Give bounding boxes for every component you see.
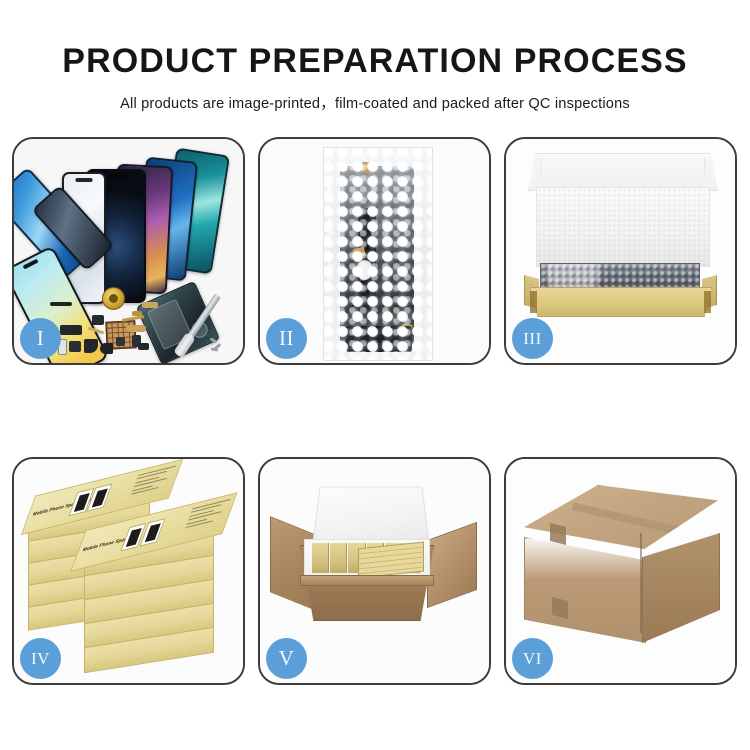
step-badge-2: II [266, 318, 307, 359]
bubble-wrap-bag [323, 147, 433, 361]
step-panel-3[interactable]: III [504, 137, 737, 365]
page-subtitle: All products are image-printed，film-coat… [0, 81, 750, 113]
part-strip [50, 302, 72, 306]
copper-coil-part [102, 287, 125, 310]
step-badge-1: I [20, 318, 61, 359]
product-preparation-infographic: PRODUCT PREPARATION PROCESS All products… [0, 0, 750, 750]
carton-vertical-edge [640, 533, 642, 633]
packed-parts-texture [541, 264, 699, 290]
process-step-grid: I II [12, 137, 738, 685]
step-badge-4: IV [20, 638, 61, 679]
header: PRODUCT PREPARATION PROCESS All products… [0, 0, 750, 113]
carton-tape-lower [552, 597, 568, 619]
packed-parts-row [540, 263, 700, 291]
step-panel-4[interactable]: Mobile Phone Spare Parts Mobile Phone Sp… [12, 457, 245, 685]
foam-sheet [536, 187, 710, 267]
part-vibrator [100, 343, 113, 354]
part-bracket [138, 343, 149, 350]
step-badge-3: III [512, 318, 553, 359]
part-gold-connector [142, 302, 158, 308]
sealed-carton-side [642, 533, 720, 643]
part-camera [69, 341, 81, 352]
box-label-lines-back [130, 465, 176, 497]
carton-tape-upper [550, 523, 566, 545]
step-panel-1[interactable]: I [12, 137, 245, 365]
box-label-lines-front [184, 499, 230, 531]
box-front-panel [530, 287, 712, 317]
part-button [116, 337, 125, 346]
sealed-carton-front [524, 537, 646, 643]
carton-flap-right [427, 522, 477, 608]
box-corner-tape-left [530, 291, 537, 313]
step-panel-6[interactable]: VI [504, 457, 737, 685]
bubble-texture-overlay [324, 148, 432, 360]
box-lid-open [528, 153, 718, 191]
part-flex-cable-gold [126, 325, 146, 332]
carton-rim [300, 575, 434, 586]
box-corner-tape-right [704, 291, 711, 313]
part-shield [92, 315, 104, 325]
step-panel-5[interactable]: V [258, 457, 491, 685]
step-panel-2[interactable]: II [258, 137, 491, 365]
part-module [60, 325, 82, 335]
step-badge-5: V [266, 638, 307, 679]
page-title: PRODUCT PREPARATION PROCESS [0, 0, 750, 81]
foam-texture [537, 188, 709, 266]
step-badge-6: VI [512, 638, 553, 679]
screws-group [210, 339, 224, 351]
